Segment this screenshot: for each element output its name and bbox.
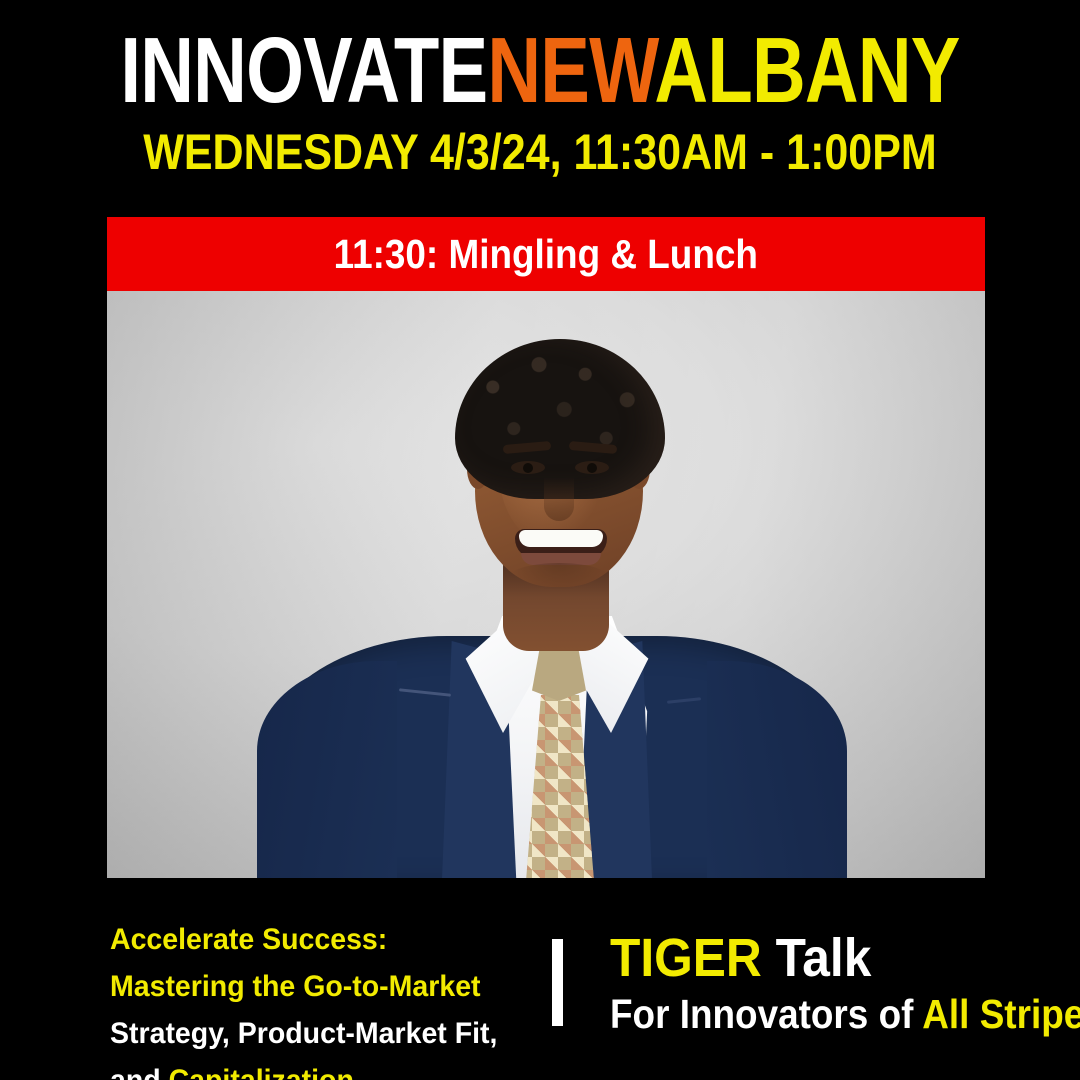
agenda-banner: 11:30: Mingling & Lunch	[107, 217, 985, 291]
brand-title-innovate: INNOVATE	[120, 18, 487, 122]
series-tagline: For Innovators of All Stripes	[610, 990, 1015, 1038]
speaker-figure	[107, 291, 985, 878]
chin-shadow	[511, 563, 607, 589]
agenda-banner-label: 11:30: Mingling & Lunch	[334, 232, 758, 276]
necktie-knot	[532, 643, 586, 701]
event-datetime: WEDNESDAY 4/3/24, 11:30AM - 1:00PM	[76, 125, 1005, 179]
series-name: TIGER Talk	[610, 928, 1024, 988]
teeth	[519, 530, 603, 547]
series-name-talk: Talk	[762, 928, 872, 988]
suit-shade-right	[707, 661, 847, 878]
talk-title: Accelerate Success: Mastering the Go-to-…	[110, 916, 504, 1080]
vertical-divider	[552, 939, 563, 1026]
speaker-photo	[107, 291, 985, 878]
brand-title-new: NEW	[487, 18, 654, 122]
series-branding: TIGER Talk For Innovators of All Stripes	[610, 928, 1060, 1038]
talk-title-strategy: Strategy, Product-	[110, 1017, 355, 1050]
talk-title-capitalization: Capitalization	[169, 1064, 354, 1080]
brand-title: INNOVATENEWALBANY	[108, 22, 972, 118]
talk-title-go-to-market: Go-to-Market	[303, 970, 480, 1003]
series-tagline-prefix: For Innovators of	[610, 991, 922, 1037]
hair-texture	[455, 339, 665, 499]
event-flyer: INNOVATENEWALBANY WEDNESDAY 4/3/24, 11:3…	[0, 0, 1080, 1080]
nose	[544, 477, 574, 521]
suit-shade-left	[257, 661, 397, 878]
series-tagline-all-stripes: All Stripes	[922, 991, 1080, 1037]
pupil-right	[587, 463, 597, 473]
brand-title-albany: ALBANY	[654, 18, 959, 122]
series-name-tiger: TIGER	[610, 928, 762, 988]
pupil-left	[523, 463, 533, 473]
